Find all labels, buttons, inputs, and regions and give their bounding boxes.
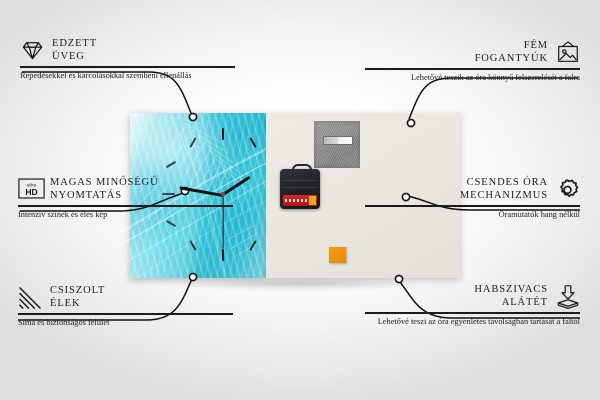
callout-divider <box>365 68 580 70</box>
callout-foam-pad: HABSZIVACSALÁTÉT Lehetővé teszi az óra e… <box>365 284 580 327</box>
infographic-canvas: EDZETTÜVEG Repedésekkel és karcolásokkal… <box>0 0 600 400</box>
diamond-icon <box>20 38 45 63</box>
callout-description: Lehetővé teszi az óra egyenletes távolsá… <box>365 317 580 327</box>
callout-high-quality-print: ultra HD MAGAS MINŐSÉGŰNYOMTATÁS Intenzí… <box>18 177 233 220</box>
clock-tick <box>189 240 196 251</box>
callout-description: Lehetővé teszik az óra könnyű felszerelé… <box>365 73 580 83</box>
callout-description: Óramutatók hang nélkül <box>365 210 580 220</box>
ultra-hd-icon: ultra HD <box>18 177 43 202</box>
movement-seam <box>283 187 317 188</box>
svg-text:HD: HD <box>25 187 37 197</box>
callout-title: EDZETTÜVEG <box>52 38 97 63</box>
clock-tick <box>189 137 196 148</box>
clock-tick <box>166 220 177 227</box>
battery-label <box>283 195 317 206</box>
callout-title: MAGAS MINŐSÉGŰNYOMTATÁS <box>50 177 159 202</box>
callout-description: Intenzív színek és éles kép <box>18 210 233 220</box>
callout-divider <box>18 313 233 315</box>
callout-polished-edges: CSISZOLTÉLEK Sima és biztonságos felület <box>18 285 233 328</box>
callout-silent-mechanism: CSENDES ÓRAMECHANIZMUS Óramutatók hang n… <box>365 177 580 220</box>
callout-tempered-glass: EDZETTÜVEG Repedésekkel és karcolásokkal… <box>20 38 235 81</box>
callout-title: CSISZOLTÉLEK <box>50 285 105 310</box>
callout-divider <box>20 66 235 68</box>
callout-description: Repedésekkel és karcolásokkal szembeni e… <box>20 71 235 81</box>
foam-pad-sample <box>329 247 346 263</box>
clock-tick <box>166 161 177 168</box>
callout-metal-handles: FÉMFOGANTYÚK Lehetővé teszik az óra könn… <box>365 40 580 83</box>
hanger-slot <box>323 136 353 145</box>
movement-hook <box>292 164 312 174</box>
clock-movement-box <box>280 169 320 209</box>
metal-hanger-plate <box>314 121 360 168</box>
battery-text-strip <box>285 199 309 202</box>
callout-divider <box>365 205 580 207</box>
callout-title: CSENDES ÓRAMECHANIZMUS <box>460 177 548 202</box>
gear-icon <box>555 177 580 202</box>
callout-description: Sima és biztonságos felület <box>18 318 233 328</box>
clock-hand-hub <box>221 192 225 196</box>
hanging-frame-icon <box>555 40 580 65</box>
clock-tick <box>249 240 256 251</box>
callout-divider <box>365 312 580 314</box>
battery-plus-terminal <box>309 196 316 205</box>
callout-divider <box>18 205 233 207</box>
movement-seam <box>283 180 317 181</box>
clock-tick <box>249 137 256 148</box>
press-pad-icon <box>555 284 580 309</box>
clock-tick <box>222 249 224 261</box>
polished-edges-icon <box>18 285 43 310</box>
clock-tick <box>222 128 224 140</box>
callout-title: HABSZIVACSALÁTÉT <box>474 284 548 309</box>
clock-second-hand <box>222 195 223 249</box>
callout-title: FÉMFOGANTYÚK <box>475 40 548 65</box>
